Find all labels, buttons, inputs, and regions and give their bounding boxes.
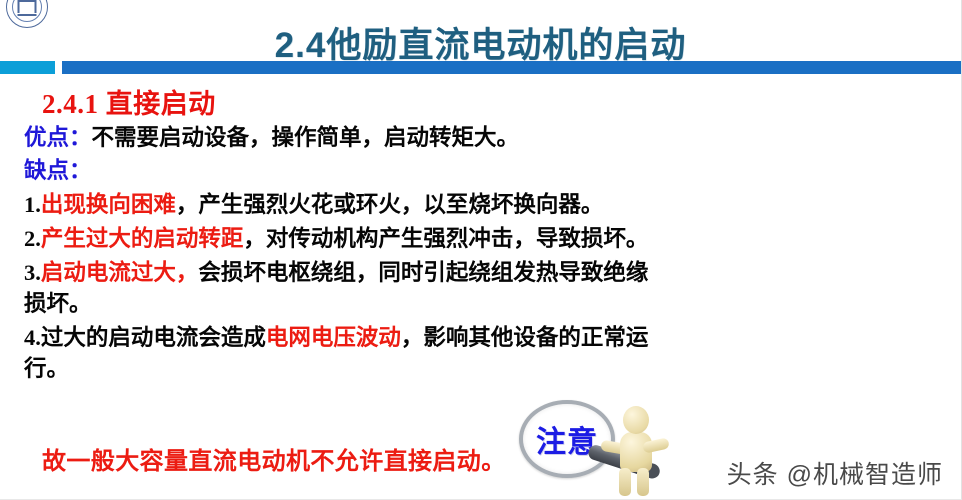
item-highlight: 出现换向困难 bbox=[41, 192, 176, 217]
list-item: 4.过大的启动电流会造成电网电压波动，影响其他设备的正常运行。 bbox=[24, 322, 664, 384]
item-number: 2. bbox=[24, 226, 41, 251]
list-item: 1.出现换向困难，产生强烈火花或环火，以至烧坏换向器。 bbox=[24, 189, 664, 220]
item-rest: ，对传动机构产生强烈冲击，导致损坏。 bbox=[243, 226, 648, 251]
item-number: 1. bbox=[24, 192, 41, 217]
seal-glyph bbox=[18, 0, 37, 13]
item-number: 3. bbox=[24, 260, 41, 285]
item-highlight: 产生过大的启动转距 bbox=[41, 226, 244, 251]
demerit-label: 缺点： bbox=[24, 158, 92, 183]
item-rest: ，产生强烈火花或环火，以至烧坏换向器。 bbox=[176, 192, 604, 217]
merit-label: 优点： bbox=[24, 125, 92, 150]
merit-line: 优点：不需要启动设备，操作简单，启动转矩大。 bbox=[24, 122, 664, 153]
attention-illustration: 注意 bbox=[515, 396, 705, 500]
conclusion-text: 故一般大容量直流电动机不允许直接启动。 bbox=[42, 441, 506, 476]
item-highlight: 电网电压波动 bbox=[266, 325, 401, 350]
slide-body: 优点：不需要启动设备，操作简单，启动转矩大。 缺点： 1.出现换向困难，产生强烈… bbox=[24, 122, 664, 384]
item-number: 4. bbox=[24, 325, 41, 350]
mannequin-head bbox=[623, 406, 649, 434]
item-lead: 过大的启动电流会造成 bbox=[41, 325, 266, 350]
accent-bar-left bbox=[0, 61, 55, 74]
presentation-slide: 沈阳工学院 SHENYANG INSTITUTE OF TECHNOLOGY 2… bbox=[0, 0, 962, 500]
merit-text: 不需要启动设备，操作简单，启动转矩大。 bbox=[92, 125, 520, 150]
accent-bar-right bbox=[62, 61, 962, 74]
list-item: 3.启动电流过大，会损坏电枢绕组，同时引起绕组发热导致绝缘损坏。 bbox=[24, 257, 664, 319]
demerit-line: 缺点： bbox=[24, 155, 664, 186]
mannequin-left-leg bbox=[619, 468, 631, 496]
seal-bar bbox=[18, 14, 37, 16]
section-heading: 2.4.1 直接启动 bbox=[42, 82, 216, 121]
watermark: 头条 @机械智造师 bbox=[727, 455, 943, 491]
list-item: 2.产生过大的启动转距，对传动机构产生强烈冲击，导致损坏。 bbox=[24, 223, 664, 254]
magnifier-icon: 注意 bbox=[519, 400, 615, 478]
item-highlight: 启动电流过大， bbox=[41, 260, 199, 285]
mannequin-right-leg bbox=[637, 468, 649, 496]
